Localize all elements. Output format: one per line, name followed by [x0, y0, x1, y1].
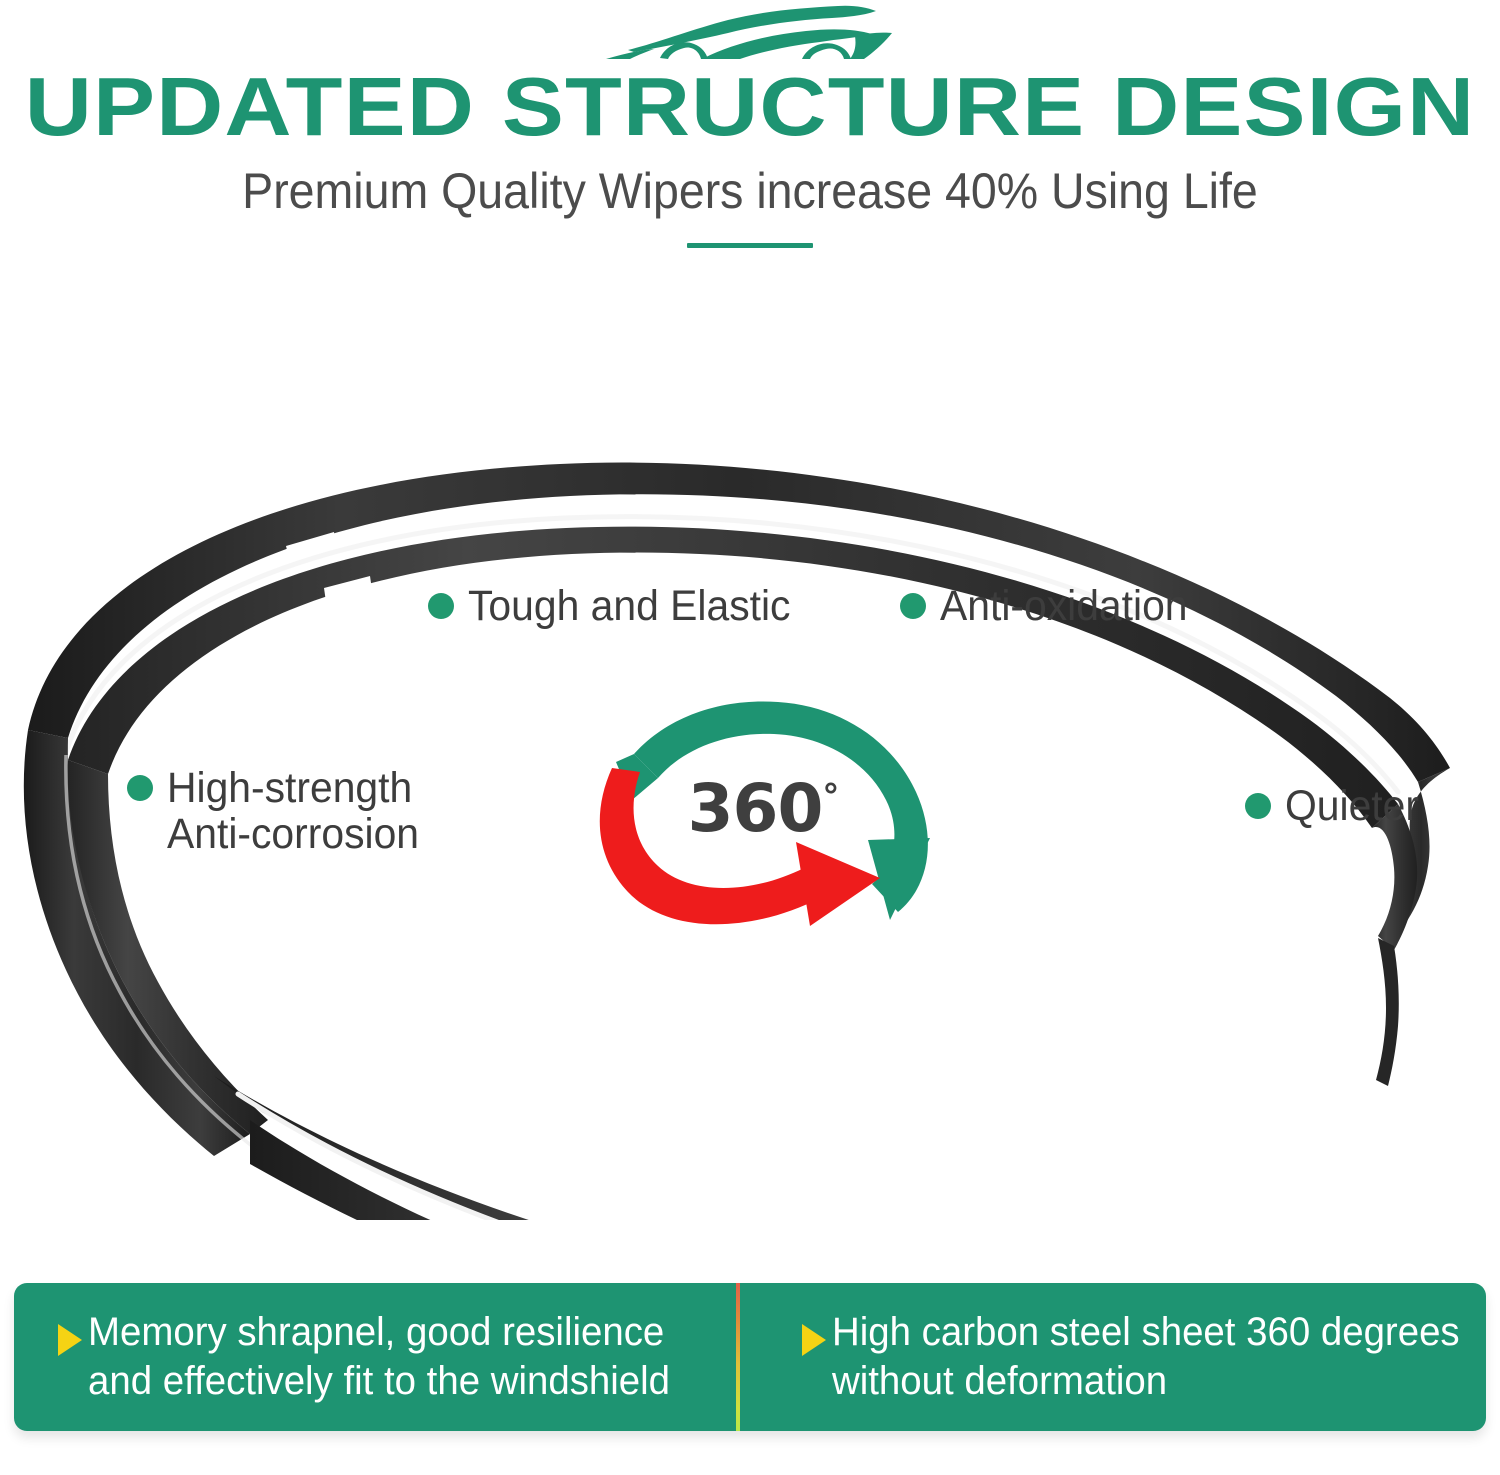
banner-text-line1: Memory shrapnel, good resilience — [88, 1310, 664, 1354]
page-subtitle: Premium Quality Wipers increase 40% Usin… — [53, 165, 1448, 218]
banner-text-line2: and effectively fit to the windshield — [88, 1359, 670, 1403]
feature-label: Anti-oxidation — [940, 583, 1188, 629]
header: UPDATED STRUCTURE DESIGN Premium Quality… — [0, 0, 1500, 248]
banner-text: Memory shrapnel, good resilience and eff… — [88, 1308, 670, 1406]
feature-anti-oxidation: Anti-oxidation — [900, 583, 1201, 629]
feature-tough-and-elastic: Tough and Elastic — [428, 583, 807, 629]
banner-text-line2: without deformation — [832, 1359, 1167, 1403]
feature-label-line1: High-strength — [167, 764, 412, 812]
360-degree-badge: 360° — [572, 692, 972, 932]
triangle-bullet-icon — [802, 1324, 826, 1356]
bullet-dot-icon — [428, 593, 454, 619]
title-underline-divider — [687, 243, 813, 248]
bottom-banner-group: Memory shrapnel, good resilience and eff… — [14, 1283, 1486, 1431]
banner-high-carbon-steel: High carbon steel sheet 360 degrees with… — [746, 1283, 1486, 1431]
car-silhouette-logo — [600, 2, 900, 64]
feature-quieter: Quieter — [1245, 783, 1426, 829]
feature-label: Quieter — [1285, 783, 1419, 829]
feature-label: High-strength Anti-corrosion — [167, 765, 419, 857]
feature-label: Tough and Elastic — [468, 583, 790, 629]
rotation-arrows-icon — [572, 692, 972, 932]
feature-high-strength-anti-corrosion: High-strength Anti-corrosion — [127, 765, 432, 857]
banner-text-line1: High carbon steel sheet 360 degrees — [832, 1310, 1460, 1354]
bullet-dot-icon — [1245, 793, 1271, 819]
page-title: UPDATED STRUCTURE DESIGN — [0, 68, 1500, 147]
banner-text: High carbon steel sheet 360 degrees with… — [832, 1308, 1460, 1406]
banner-memory-shrapnel: Memory shrapnel, good resilience and eff… — [14, 1283, 746, 1431]
bullet-dot-icon — [900, 593, 926, 619]
bullet-dot-icon — [127, 775, 153, 801]
triangle-bullet-icon — [58, 1324, 82, 1356]
banner-divider — [736, 1283, 740, 1431]
feature-label-line2: Anti-corrosion — [167, 810, 419, 858]
